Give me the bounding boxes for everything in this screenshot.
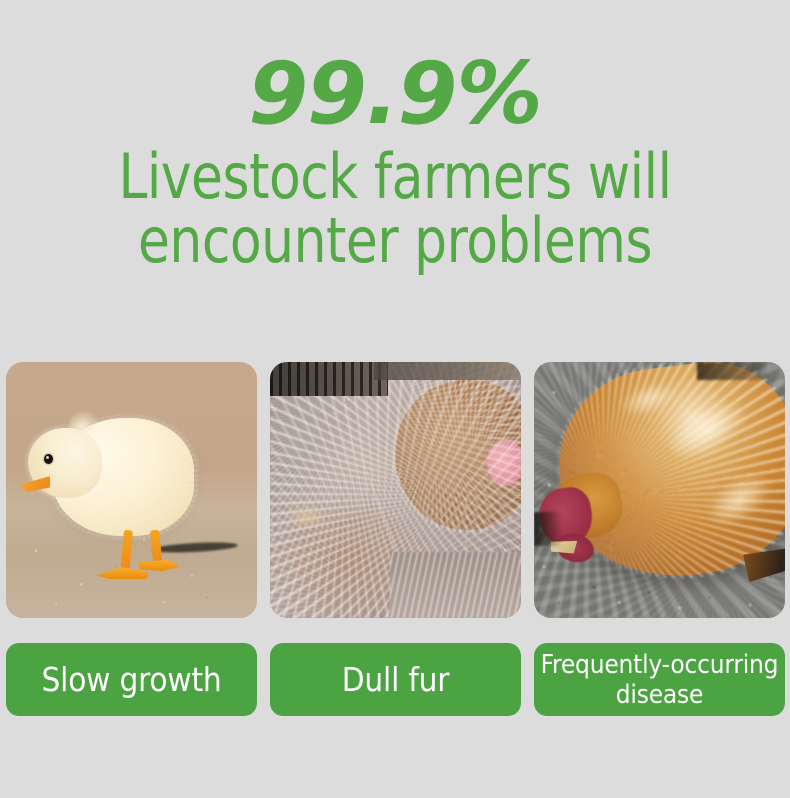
problem-label-slow-growth: Slow growth bbox=[6, 643, 257, 716]
chick-eye bbox=[44, 454, 53, 464]
dark-background-strip bbox=[374, 362, 521, 380]
statistic-percentage: 99.9% bbox=[0, 48, 790, 140]
problem-label-disease: Frequently-occurring disease bbox=[534, 643, 785, 716]
tan-feather-patch bbox=[284, 504, 328, 530]
cage-wire-top-left bbox=[270, 362, 388, 396]
dark-top-shadow bbox=[697, 362, 767, 380]
headline-line-2: encounter problems bbox=[28, 210, 763, 272]
lower-feather-fringe bbox=[390, 552, 521, 618]
headline-block: 99.9% Livestock farmers will encounter p… bbox=[0, 48, 790, 272]
dull-feathers-photo bbox=[270, 362, 521, 618]
problem-card-dull-fur: Dull fur bbox=[270, 362, 521, 716]
problem-label-dull-fur: Dull fur bbox=[270, 643, 521, 716]
problem-card-disease: Frequently-occurring disease bbox=[534, 362, 785, 716]
promotional-poster: 99.9% Livestock farmers will encounter p… bbox=[0, 0, 790, 798]
chick-photo bbox=[6, 362, 257, 618]
headline-line-1: Livestock farmers will bbox=[28, 146, 763, 208]
sick-hen-photo bbox=[534, 362, 785, 618]
problem-card-slow-growth: Slow growth bbox=[6, 362, 257, 716]
problem-cards-row: Slow growth Dull fur bbox=[6, 362, 784, 716]
dark-left-shadow bbox=[534, 512, 562, 546]
